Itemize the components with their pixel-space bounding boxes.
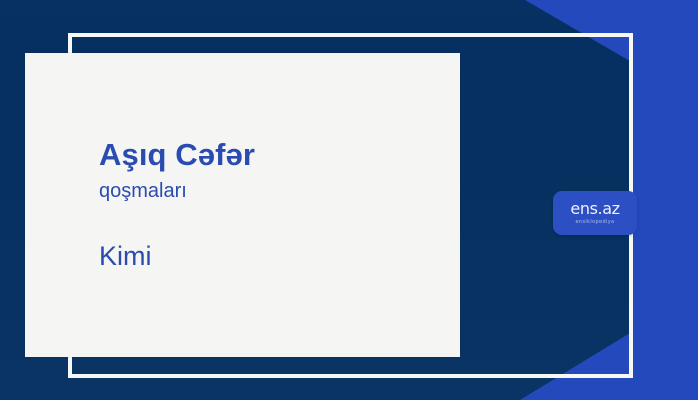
content-card: Aşıq Cəfər qoşmaları Kimi [25,53,460,357]
title-spacer [99,203,442,241]
page-title: Aşıq Cəfər [99,138,442,173]
ensaz-logo-badge[interactable]: ens.az ensiklopediya [553,191,637,235]
slide-canvas: Aşıq Cəfər qoşmaları Kimi ens.az ensiklo… [0,0,698,400]
page-subtitle: qoşmaları [99,179,442,203]
content-card-inner: Aşıq Cəfər qoşmaları Kimi [99,53,442,357]
poem-title: Kimi [99,241,442,272]
logo-tagline: ensiklopediya [576,220,615,225]
logo-wordmark: ens.az [570,201,619,217]
